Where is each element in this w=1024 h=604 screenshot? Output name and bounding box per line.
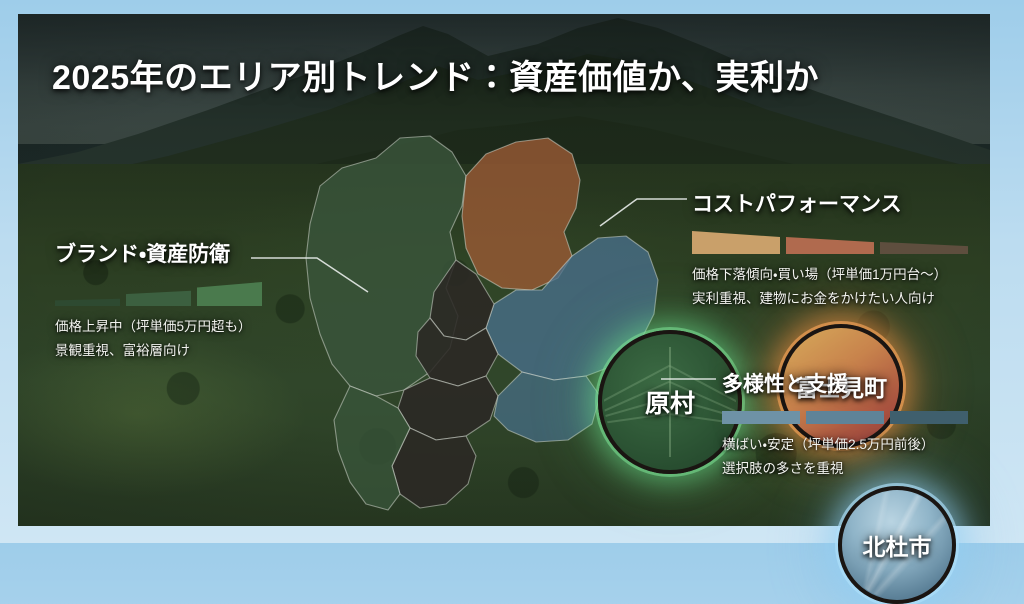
- trend-bar-3: [890, 411, 968, 424]
- trend-bar-2: [786, 237, 874, 254]
- infographic-stage: 2025年のエリア別トレンド：資産価値か、実利か: [0, 0, 1024, 543]
- callout-body-cost: 価格下落傾向・買い場（坪単価1万円台〜） 実利重視、建物にお金をかけたい人向け: [692, 263, 968, 307]
- callout-body-brand: 価格上昇中（坪単価5万円超も） 景観重視、富裕層向け: [55, 315, 262, 359]
- map-node-hokuto[interactable]: 北杜市: [838, 486, 956, 604]
- trend-bar-1: [55, 297, 120, 306]
- callout-line-1: 価格上昇中（坪単価5万円超も）: [55, 315, 262, 335]
- callout-heading-cost: コストパフォーマンス: [692, 188, 968, 218]
- region-hokuto-south: [494, 372, 600, 442]
- callout-line-2: 実利重視、建物にお金をかけたい人向け: [692, 287, 968, 307]
- trend-bars-brand: [55, 281, 262, 306]
- callout-cost: コストパフォーマンス 価格下落傾向・買い場（坪単価1万円台〜） 実利重視、建物に…: [692, 188, 968, 311]
- callout-diversity: 多様性と支援 横ばい・安定（坪単価2.5万円前後） 選択肢の多さを重視: [722, 368, 968, 481]
- trend-bar-3: [197, 281, 262, 306]
- node-ring: [838, 486, 956, 604]
- trend-bar-1: [722, 411, 800, 424]
- node-ring: [598, 330, 742, 474]
- trend-bars-cost: [692, 231, 968, 254]
- region-map: 原村 富士見町 北杜市: [280, 128, 710, 528]
- map-node-hara[interactable]: 原村: [598, 330, 742, 474]
- callout-heading-brand: ブランド・資産防衛: [55, 238, 262, 268]
- callout-line-1: 価格下落傾向・買い場（坪単価1万円台〜）: [692, 263, 968, 283]
- callout-body-diversity: 横ばい・安定（坪単価2.5万円前後） 選択肢の多さを重視: [722, 433, 968, 477]
- trend-bar-3: [880, 242, 968, 254]
- callout-line-1: 横ばい・安定（坪単価2.5万円前後）: [722, 433, 968, 453]
- callout-heading-diversity: 多様性と支援: [722, 368, 968, 398]
- trend-bar-1: [692, 231, 780, 254]
- callout-line-2: 選択肢の多さを重視: [722, 457, 968, 477]
- trend-bar-2: [806, 411, 884, 424]
- trend-bars-diversity: [722, 411, 968, 424]
- trend-bar-2: [126, 289, 191, 306]
- page-title: 2025年のエリア別トレンド：資産価値か、実利か: [52, 50, 819, 99]
- callout-line-2: 景観重視、富裕層向け: [55, 339, 262, 359]
- callout-brand: ブランド・資産防衛 価格上昇中（坪単価5万円超も） 景観重視、富裕層向け: [55, 238, 262, 363]
